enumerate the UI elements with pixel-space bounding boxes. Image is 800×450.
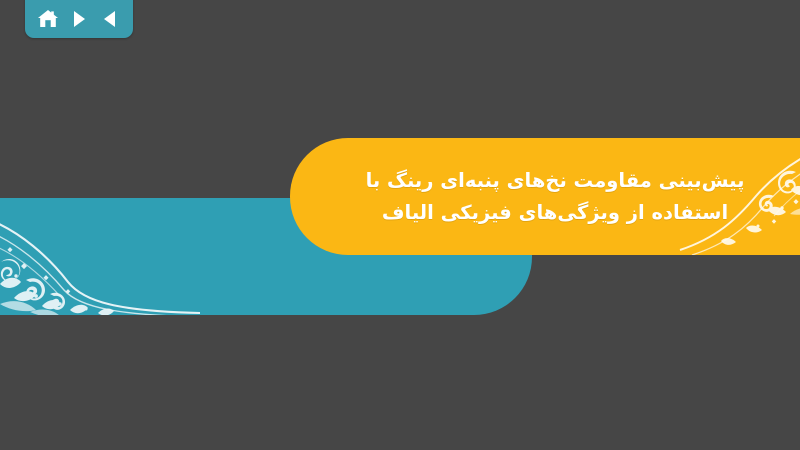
- title-line-2: استفاده از ویژگی‌های فیزیکی الیاف: [340, 197, 770, 229]
- title-banner: پیش‌بینی مقاومت نخ‌های پنبه‌ای رینگ با ا…: [290, 138, 800, 255]
- bottom-left-arabesque-ornament: [0, 198, 200, 315]
- home-icon: [37, 9, 59, 29]
- title-line-1: پیش‌بینی مقاومت نخ‌های پنبه‌ای رینگ با: [340, 165, 770, 197]
- home-button[interactable]: [35, 7, 61, 31]
- next-slide-button[interactable]: [66, 7, 92, 31]
- slide-title: پیش‌بینی مقاومت نخ‌های پنبه‌ای رینگ با ا…: [340, 165, 770, 228]
- slide-stage: پیش‌بینی مقاومت نخ‌های پنبه‌ای رینگ با ا…: [0, 0, 800, 450]
- previous-slide-button[interactable]: [97, 7, 123, 31]
- slide-navigation-bar: [25, 0, 133, 38]
- triangle-left-icon: [101, 10, 118, 28]
- triangle-right-icon: [71, 10, 88, 28]
